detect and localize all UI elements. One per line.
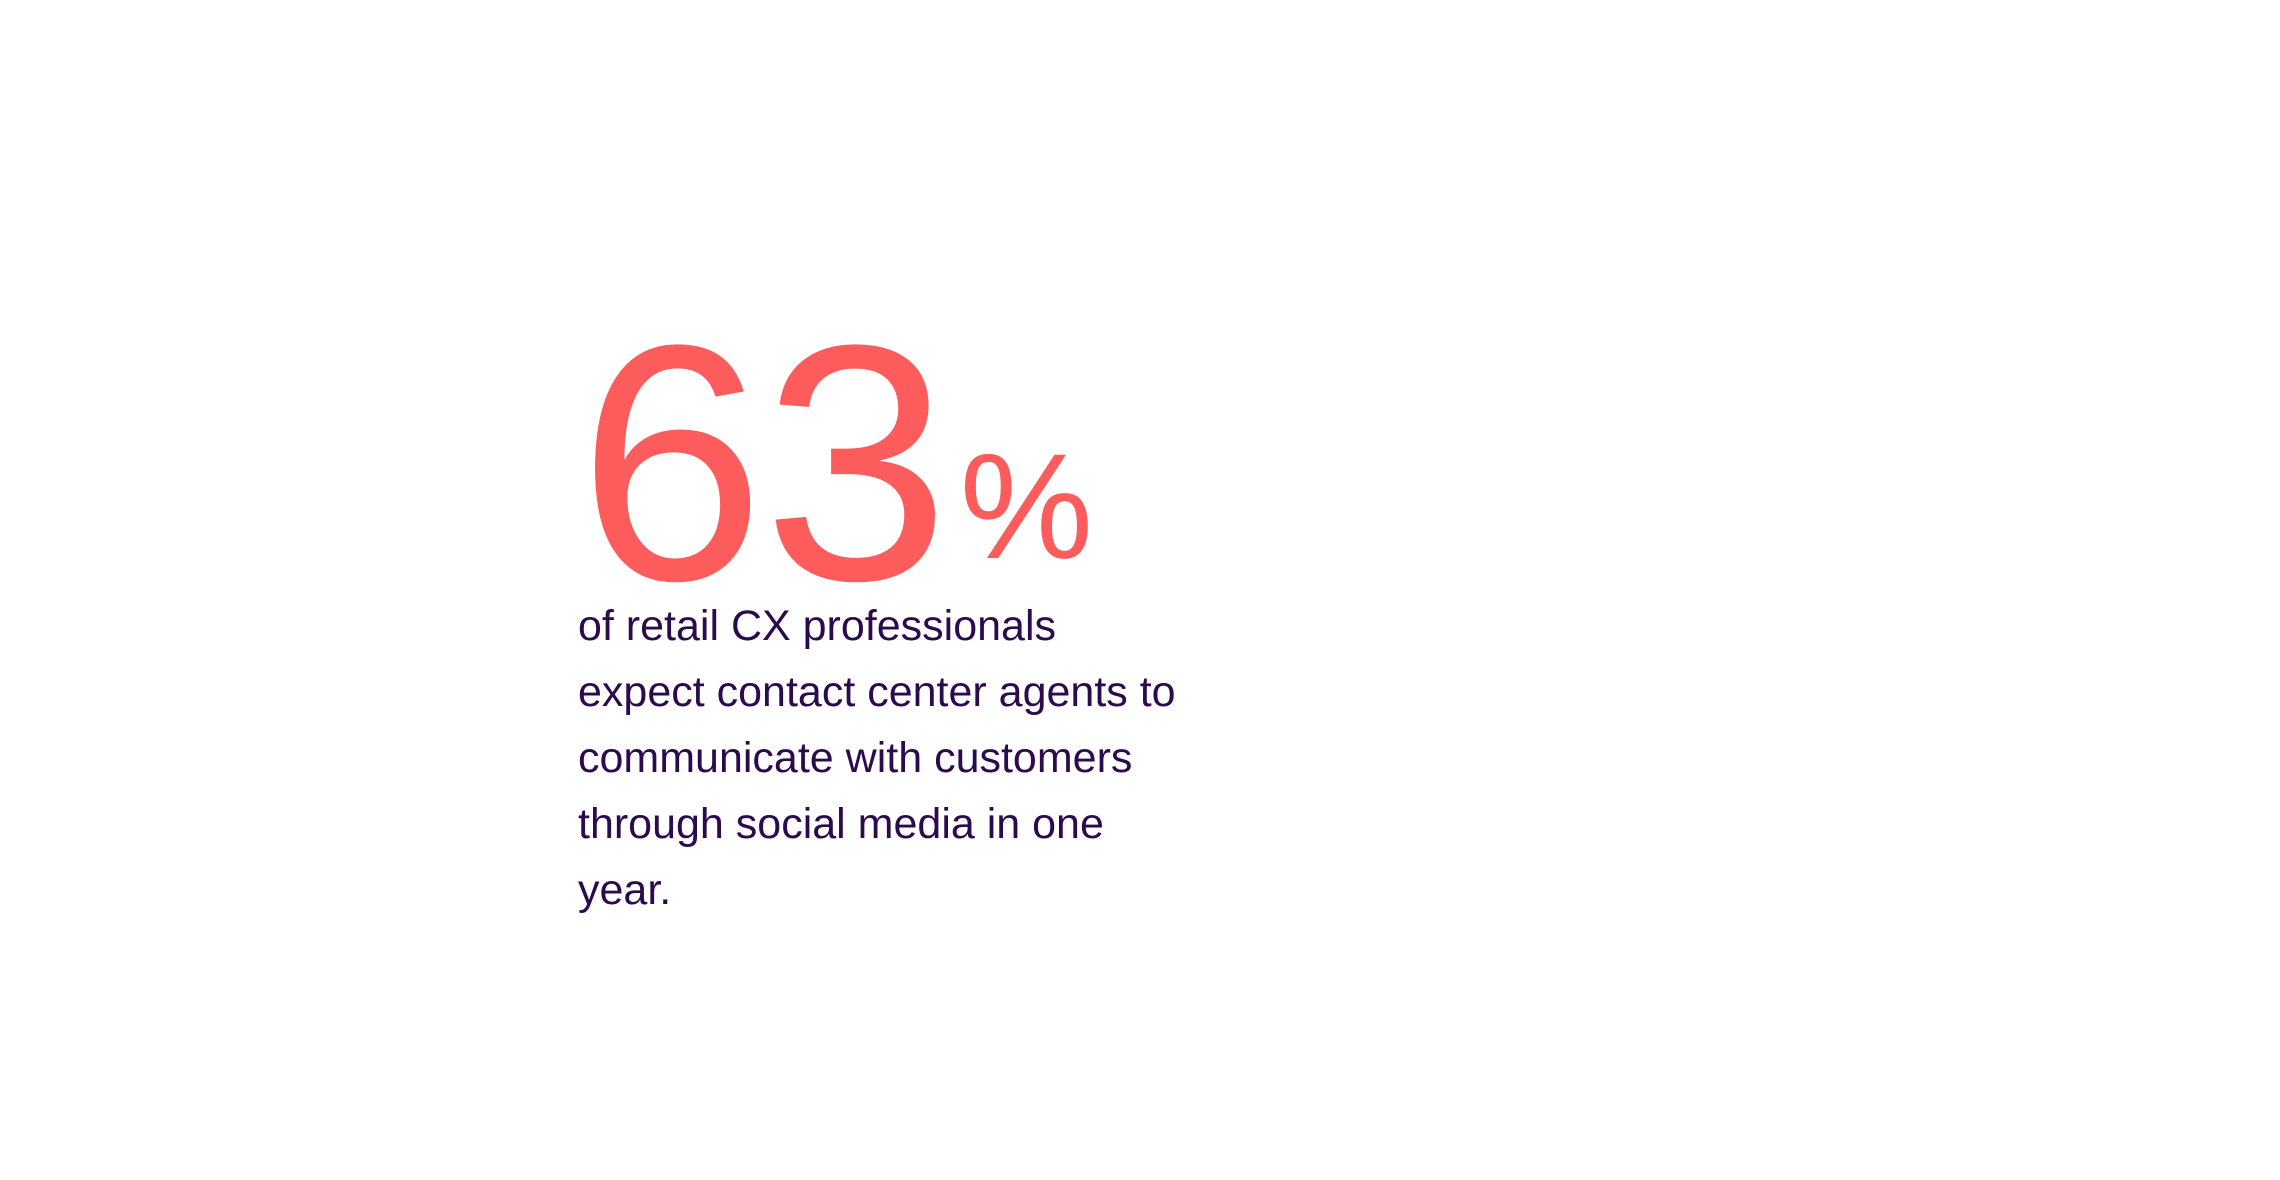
percent-symbol: % [960,431,1093,581]
statistic-figure: 63 % [578,340,1218,589]
statistic-value: 63 [578,340,948,589]
statistic-description: of retail CX professionals expect contac… [578,593,1178,923]
statistic-callout-card: 63 % of retail CX professionals expect c… [578,340,1218,923]
